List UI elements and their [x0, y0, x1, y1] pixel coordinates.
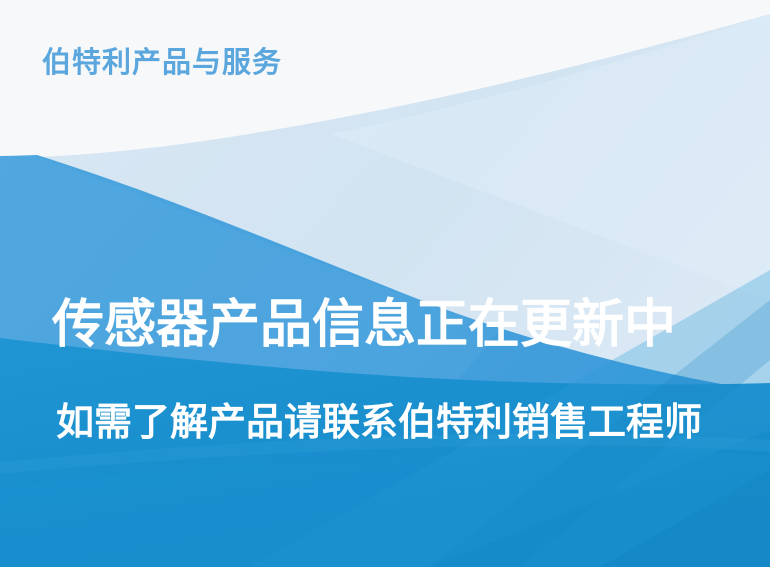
product-service-banner: 伯特利产品与服务 传感器产品信息正在更新中 如需了解产品请联系伯特利销售工程师: [0, 0, 770, 567]
brand-header-title: 伯特利产品与服务: [42, 46, 282, 81]
banner-text-layer: 伯特利产品与服务 传感器产品信息正在更新中 如需了解产品请联系伯特利销售工程师: [0, 0, 770, 567]
banner-subheadline: 如需了解产品请联系伯特利销售工程师: [56, 402, 702, 446]
banner-headline: 传感器产品信息正在更新中: [52, 296, 676, 356]
